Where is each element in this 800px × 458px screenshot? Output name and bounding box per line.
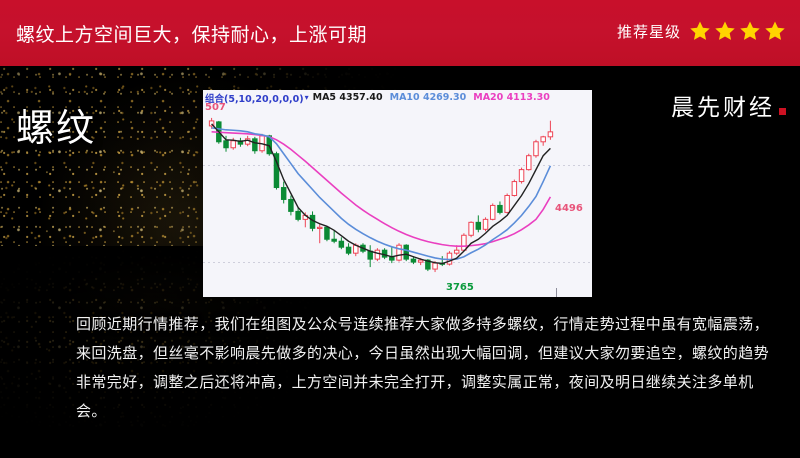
candle-series	[209, 118, 552, 272]
header-title: 螺纹上方空间巨大，保持耐心，上涨可期	[16, 20, 367, 47]
rating-label: 推荐星级	[617, 21, 681, 42]
analysis-paragraph: 回顾近期行情推荐，我们在组图及公众号连续推荐大家做多持多螺纹，行情走势过程中虽有…	[76, 310, 776, 426]
star-rating	[689, 20, 786, 42]
star-icon	[764, 20, 786, 42]
brand-dot-icon	[779, 108, 786, 115]
brand-name: 晨先财经	[671, 88, 775, 122]
screenshot-root: 螺纹上方空间巨大，保持耐心，上涨可期 推荐星级 螺纹 晨先财经 组合(5,10,…	[0, 0, 800, 458]
product-title: 螺纹	[16, 97, 96, 152]
star-icon	[714, 20, 736, 42]
star-icon	[739, 20, 761, 42]
star-icon	[689, 20, 711, 42]
chart-plot-area	[203, 90, 592, 297]
header-bar: 螺纹上方空间巨大，保持耐心，上涨可期 推荐星级	[0, 0, 800, 66]
brand-logo: 晨先财经	[671, 88, 786, 122]
candlestick-chart-panel[interactable]: 组合(5,10,20,0,0,0) ▾ MA5 4357.40 MA10 426…	[203, 90, 592, 297]
rating-group: 推荐星级	[617, 20, 786, 42]
